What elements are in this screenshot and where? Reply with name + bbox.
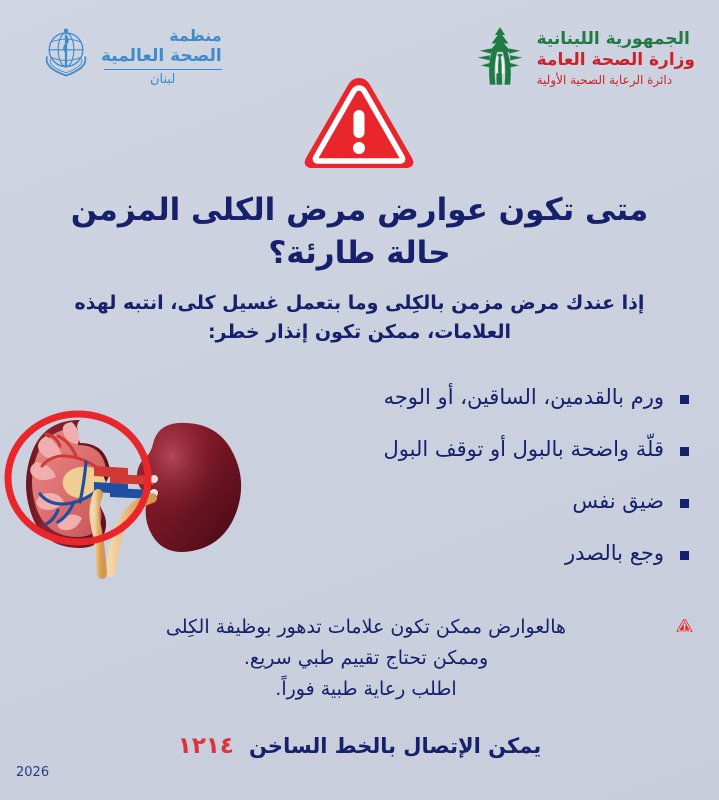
warning-note-line-3: اطلب رعاية طبية فوراً.: [64, 674, 668, 705]
ministry-logo-text: الجمهورية اللبنانية وزارة الصحة العامة د…: [537, 26, 695, 88]
infographic-poster: منظمة الصحة العالمية لبنان الجمهورية الل…: [0, 0, 719, 800]
symptom-label: قلّة واضحة بالبول أو توقف البول: [384, 437, 664, 462]
warning-note-text: هالعوارض ممكن تكون علامات تدهور بوظيفة ا…: [60, 612, 668, 704]
who-emblem-icon: [38, 24, 94, 80]
warning-note: هالعوارض ممكن تكون علامات تدهور بوظيفة ا…: [60, 612, 693, 704]
list-item: وجع بالصدر: [269, 528, 689, 580]
hotline-banner: يمكن الإتصال بالخط الساخن ١٢١٤: [36, 733, 683, 759]
bullet-square-icon: [680, 395, 689, 404]
bullet-square-icon: [680, 551, 689, 560]
ministry-logo-line2: وزارة الصحة العامة: [537, 50, 695, 71]
who-logo: منظمة الصحة العالمية لبنان: [38, 24, 222, 87]
year-stamp: 2026: [16, 765, 49, 780]
symptom-label: ضيق نفس: [572, 489, 664, 514]
who-logo-line1: منظمة: [169, 26, 221, 46]
warning-note-line-1: هالعوارض ممكن تكون علامات تدهور بوظيفة ا…: [64, 612, 668, 643]
symptom-label: ورم بالقدمين، الساقين، أو الوجه: [384, 385, 664, 410]
ministry-logo: الجمهورية اللبنانية وزارة الصحة العامة د…: [471, 26, 695, 88]
page-title: متى تكون عوارض مرض الكلى المزمن حالة طار…: [40, 189, 679, 275]
list-item: ورم بالقدمين، الساقين، أو الوجه: [269, 372, 689, 424]
who-logo-line2: الصحة العالمية: [101, 46, 222, 67]
bullet-square-icon: [680, 447, 689, 456]
ministry-logo-line3: دائرة الرعاية الصحية الأولية: [537, 73, 672, 89]
cedar-tree-icon: [471, 26, 529, 88]
symptom-list: ورم بالقدمين، الساقين، أو الوجه قلّة واض…: [269, 372, 689, 580]
hotline-number: ١٢١٤: [178, 733, 234, 759]
who-logo-country: لبنان: [104, 72, 222, 87]
who-logo-divider: [104, 69, 222, 70]
warning-triangle-icon: [300, 74, 418, 172]
page-subtitle: إذا عندك مرض مزمن بالكِلى وما بتعمل غسيل…: [36, 289, 683, 348]
bullet-square-icon: [680, 499, 689, 508]
hotline-label: يمكن الإتصال بالخط الساخن: [249, 734, 541, 758]
warning-note-line-2: وممكن تحتاج تقييم طبي سريع.: [64, 643, 668, 674]
list-item: ضيق نفس: [269, 476, 689, 528]
warning-triangle-small-icon: [676, 618, 693, 634]
ministry-logo-line1: الجمهورية اللبنانية: [537, 29, 690, 50]
kidney-illustration: [2, 398, 264, 588]
list-item: قلّة واضحة بالبول أو توقف البول: [269, 424, 689, 476]
whole-kidney-shape: [110, 423, 241, 572]
who-logo-text: منظمة الصحة العالمية لبنان: [101, 24, 222, 87]
symptom-label: وجع بالصدر: [565, 541, 664, 566]
